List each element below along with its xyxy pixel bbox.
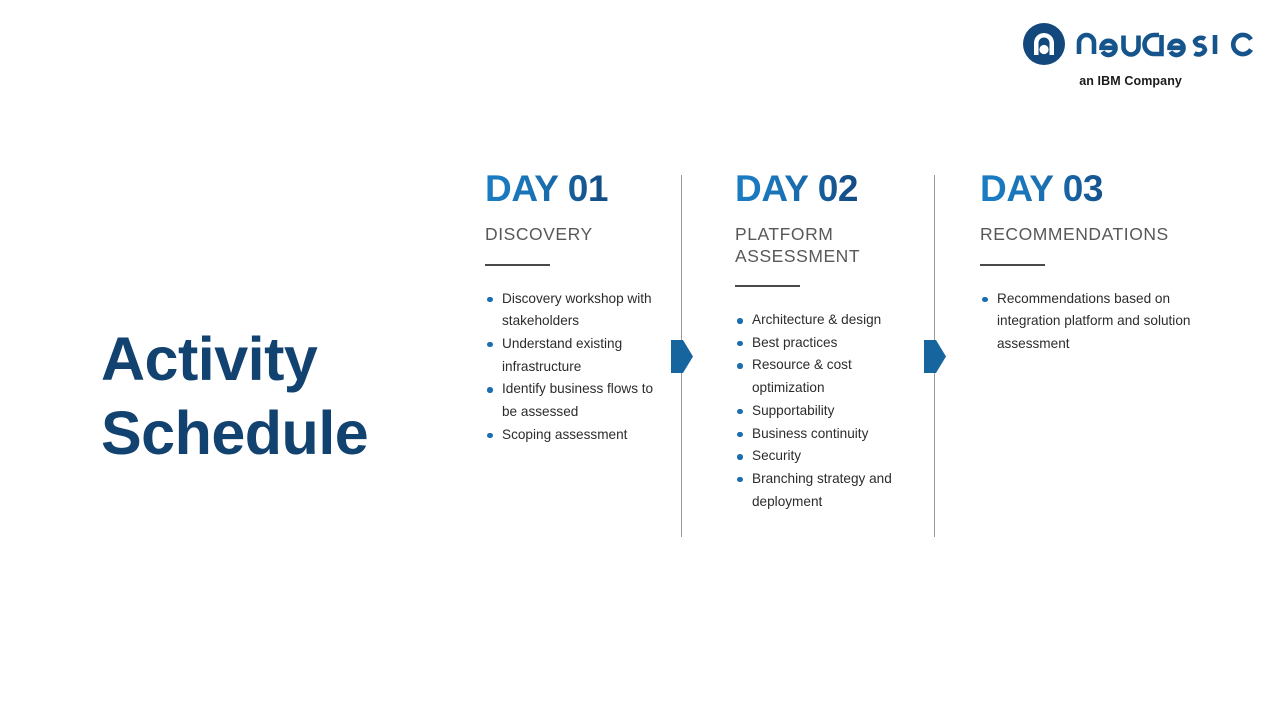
list-item: Security bbox=[735, 445, 920, 468]
list-item: Understand existing infrastructure bbox=[485, 333, 670, 378]
day-subtitle: PLATFORM ASSESSMENT bbox=[735, 224, 920, 267]
list-item: Resource & cost optimization bbox=[735, 354, 920, 399]
day-subtitle: RECOMMENDATIONS bbox=[980, 224, 1195, 246]
list-item: Architecture & design bbox=[735, 309, 920, 332]
timeline-column-day-03: DAY 03 RECOMMENDATIONS Recommendations b… bbox=[980, 170, 1195, 356]
arrow-right-icon bbox=[924, 338, 946, 375]
neudesic-wordmark bbox=[1075, 29, 1258, 65]
list-item: Recommendations based on integration pla… bbox=[980, 288, 1195, 356]
page-title-line-2: Schedule bbox=[101, 396, 431, 470]
day-activity-list: Recommendations based on integration pla… bbox=[980, 288, 1195, 356]
list-item: Identify business flows to be assessed bbox=[485, 378, 670, 423]
logo-row bbox=[1026, 22, 1258, 71]
list-item: Branching strategy and deployment bbox=[735, 468, 920, 513]
page-title: Activity Schedule bbox=[101, 322, 431, 471]
neudesic-circle-logo-icon bbox=[1022, 22, 1066, 71]
arrow-right-icon bbox=[671, 338, 693, 375]
list-item: Supportability bbox=[735, 400, 920, 423]
day-rule-divider bbox=[735, 285, 800, 287]
day-rule-divider bbox=[485, 264, 550, 266]
page-title-line-1: Activity bbox=[101, 322, 431, 396]
activity-timeline: DAY 01 DISCOVERY Discovery workshop with… bbox=[485, 170, 1245, 550]
day-heading: DAY 03 bbox=[980, 170, 1195, 207]
brand-logo: an IBM Company bbox=[1026, 22, 1258, 88]
list-item: Business continuity bbox=[735, 423, 920, 446]
day-subtitle: DISCOVERY bbox=[485, 224, 670, 246]
list-item: Best practices bbox=[735, 332, 920, 355]
day-activity-list: Discovery workshop with stakeholders Und… bbox=[485, 288, 670, 447]
day-heading: DAY 01 bbox=[485, 170, 670, 207]
timeline-column-day-02: DAY 02 PLATFORM ASSESSMENT Architecture … bbox=[735, 170, 920, 513]
day-activity-list: Architecture & design Best practices Res… bbox=[735, 309, 920, 513]
day-rule-divider bbox=[980, 264, 1045, 266]
list-item: Discovery workshop with stakeholders bbox=[485, 288, 670, 333]
timeline-column-day-01: DAY 01 DISCOVERY Discovery workshop with… bbox=[485, 170, 670, 446]
day-heading: DAY 02 bbox=[735, 170, 920, 207]
list-item: Scoping assessment bbox=[485, 424, 670, 447]
logo-tagline: an IBM Company bbox=[1026, 74, 1182, 88]
